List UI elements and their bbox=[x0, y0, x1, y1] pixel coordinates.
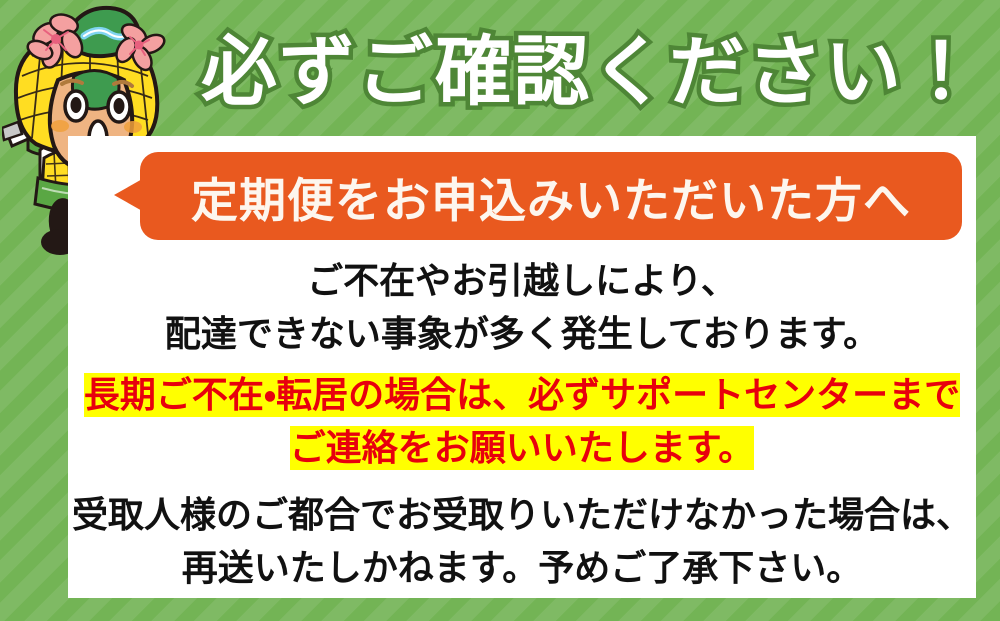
spacer bbox=[68, 474, 976, 488]
notice-line-5: 受取人様のご都合でお受取りいただけなかった場合は、 bbox=[68, 488, 976, 541]
notice-line-6: 再送いたしかねます。予めご了承下さい。 bbox=[68, 541, 976, 594]
highlight-text: ご連絡をお願いいたします。 bbox=[290, 426, 754, 470]
highlight-text: 長期ご不在・転居の場合は、必ずサポートセンターまで bbox=[84, 373, 960, 417]
notice-line-1: ご不在やお引越しにより、 bbox=[68, 254, 976, 307]
poster-root: 必ずご確認ください！ bbox=[0, 0, 1000, 621]
spacer bbox=[68, 360, 976, 368]
banner-label: 定期便をお申込みいただいた方へ bbox=[191, 162, 911, 231]
notice-body: ご不在やお引越しにより、 配達できない事象が多く発生しております。 長期ご不在・… bbox=[68, 254, 976, 594]
notice-line-3-highlighted: 長期ご不在・転居の場合は、必ずサポートセンターまで bbox=[68, 368, 976, 421]
banner-body: 定期便をお申込みいただいた方へ bbox=[140, 152, 962, 240]
notice-line-4-highlighted: ご連絡をお願いいたします。 bbox=[68, 421, 976, 474]
notice-line-2: 配達できない事象が多く発生しております。 bbox=[68, 307, 976, 360]
content-card: 定期便をお申込みいただいた方へ ご不在やお引越しにより、 配達できない事象が多く… bbox=[68, 136, 976, 598]
callout-banner: 定期便をお申込みいただいた方へ bbox=[140, 152, 962, 240]
page-title: 必ずご確認ください！ bbox=[196, 6, 986, 124]
